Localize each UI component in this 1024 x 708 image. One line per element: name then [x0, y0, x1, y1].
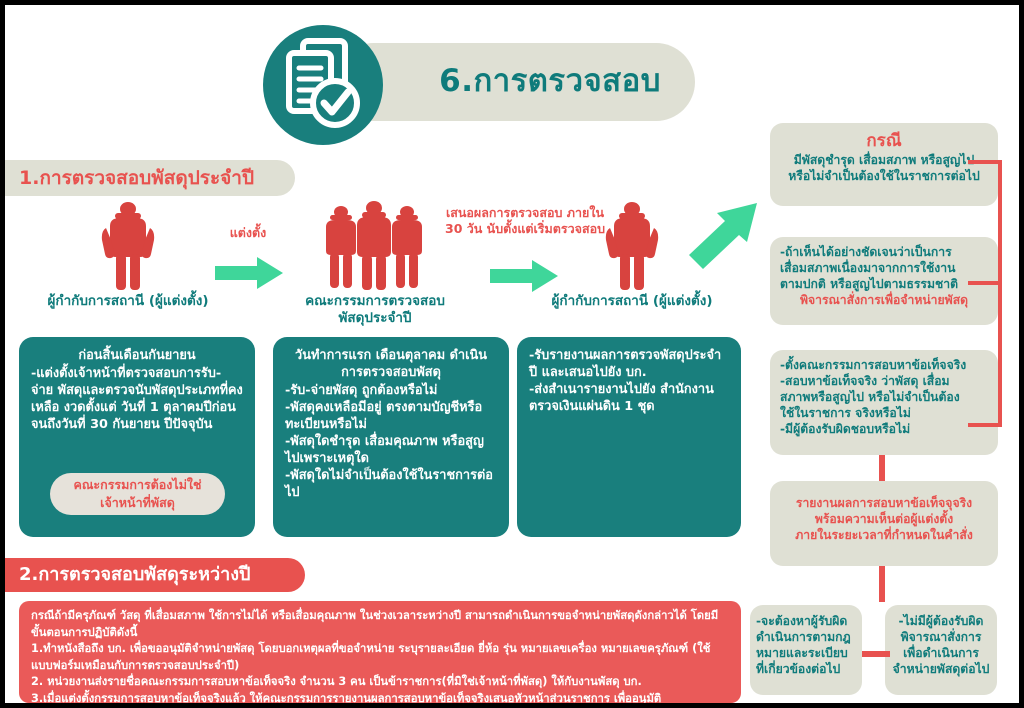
right-box-5-right: -ไม่มีผู้ต้องรับผิด พิจารณาสั่งการ เพื่อ… — [885, 605, 997, 695]
person3-caption: ผู้กำกับการสถานี (ผู้แต่งตั้ง) — [549, 293, 715, 310]
teal-box-2-body: -รับ-จ่ายพัสดุ ถูกต้องหรือไม่ -พัสดุคงเห… — [285, 382, 497, 501]
connector-split-horizontal — [862, 651, 890, 657]
right-box-4-text: รายงานผลการสอบหาข้อเท็จจุจริง พร้อมความเ… — [780, 495, 988, 543]
page-title: 6.การตรวจสอบ — [405, 57, 695, 105]
teal-box-2: วันทำการแรก เดือนตุลาคม ดำเนินการตรวจสอบ… — [273, 337, 509, 537]
connector-vertical-bracket — [998, 160, 1002, 427]
connector-branch-case — [968, 160, 1000, 164]
connector-branch-3 — [968, 423, 1000, 427]
committee-note-text: คณะกรรมการต้องไม่ใช่ เจ้าหน้าที่พัสดุ — [50, 476, 225, 512]
case-box-text: มีพัสดุชำรุด เสื่อมสภาพ หรือสูญไป หรือไม… — [780, 152, 988, 184]
connector-box4-to-split — [879, 566, 885, 602]
connector-branch-2 — [968, 281, 1000, 285]
clipboard-check-icon — [273, 35, 373, 139]
right-box-2-text: -ถ้าเห็นได้อย่างชัดเจนว่าเป็นการ เสื่อมส… — [780, 244, 988, 292]
officer-single-icon — [97, 200, 159, 296]
connector-box3-to-box4 — [879, 455, 885, 481]
section1-heading: 1.การตรวจสอบพัสดุประจำปี — [19, 165, 299, 192]
right-box-2-highlight: พิจารณาสั่งการเพื่อจำหน่ายพัสดุ — [780, 292, 988, 308]
case-box: กรณี มีพัสดุชำรุด เสื่อมสภาพ หรือสูญไป ห… — [770, 123, 998, 206]
right-box-5-right-text: -ไม่มีผู้ต้องรับผิด พิจารณาสั่งการ เพื่อ… — [891, 613, 991, 677]
right-box-3-text: -ตั้งคณะกรรมการสอบหาข้อเท็จจริง -สอบหาข้… — [780, 357, 988, 437]
teal-box-1-head: ก่อนสิ้นเดือนกันยายน — [31, 347, 243, 364]
case-box-title: กรณี — [780, 130, 988, 152]
right-box-5-left-text: -จะต้องหาผู้รับผิด ดำเนินการตามกฎ หมายแล… — [756, 613, 856, 677]
right-box-5-left: -จะต้องหาผู้รับผิด ดำเนินการตามกฎ หมายแล… — [750, 605, 862, 695]
arrow2-note: เสนอผลการตรวจสอบ ภายใน 30 วัน นับตั้งแต่… — [445, 205, 605, 237]
arrow-right-icon — [215, 255, 285, 295]
teal-box-1-body: -แต่งตั้งเจ้าหน้าที่ตรวจสอบการรับ-จ่าย พ… — [31, 365, 243, 433]
section2-body-text: กรณีถ้ามีครุภัณฑ์ วัสดุ ที่เสื่อมสภาพ ใช… — [31, 608, 729, 707]
teal-box-2-head: วันทำการแรก เดือนตุลาคม ดำเนินการตรวจสอบ… — [285, 347, 497, 381]
person1-caption: ผู้กำกับการสถานี (ผู้แต่งตั้ง) — [45, 293, 211, 310]
right-box-2: -ถ้าเห็นได้อย่างชัดเจนว่าเป็นการ เสื่อมส… — [770, 237, 998, 325]
arrow1-note: แต่งตั้ง — [203, 225, 293, 241]
arrow-up-right-icon — [685, 195, 765, 275]
teal-box-3: -รับรายงานผลการตรวจพัสดุประจำปี และเสนอไ… — [517, 337, 741, 537]
right-box-3: -ตั้งคณะกรรมการสอบหาข้อเท็จจริง -สอบหาข้… — [770, 350, 998, 455]
person2-caption: คณะกรรมการตรวจสอบ พัสดุประจำปี — [290, 293, 460, 327]
teal-box-3-body: -รับรายงานผลการตรวจพัสดุประจำปี และเสนอไ… — [529, 347, 729, 415]
section2-heading: 2.การตรวจสอบพัสดุระหว่างปี — [19, 562, 309, 588]
infographic-poster: 6.การตรวจสอบ 1.การตรวจสอบพัสดุประจำปี ผู… — [0, 0, 1024, 708]
officer-single-icon — [601, 200, 663, 296]
section2-panel: กรณีถ้ามีครุภัณฑ์ วัสดุ ที่เสื่อมสภาพ ใช… — [19, 601, 741, 703]
officer-group-icon — [320, 200, 430, 296]
arrow-right-icon — [490, 258, 560, 298]
right-box-4: รายงานผลการสอบหาข้อเท็จจุจริง พร้อมความเ… — [770, 481, 998, 566]
